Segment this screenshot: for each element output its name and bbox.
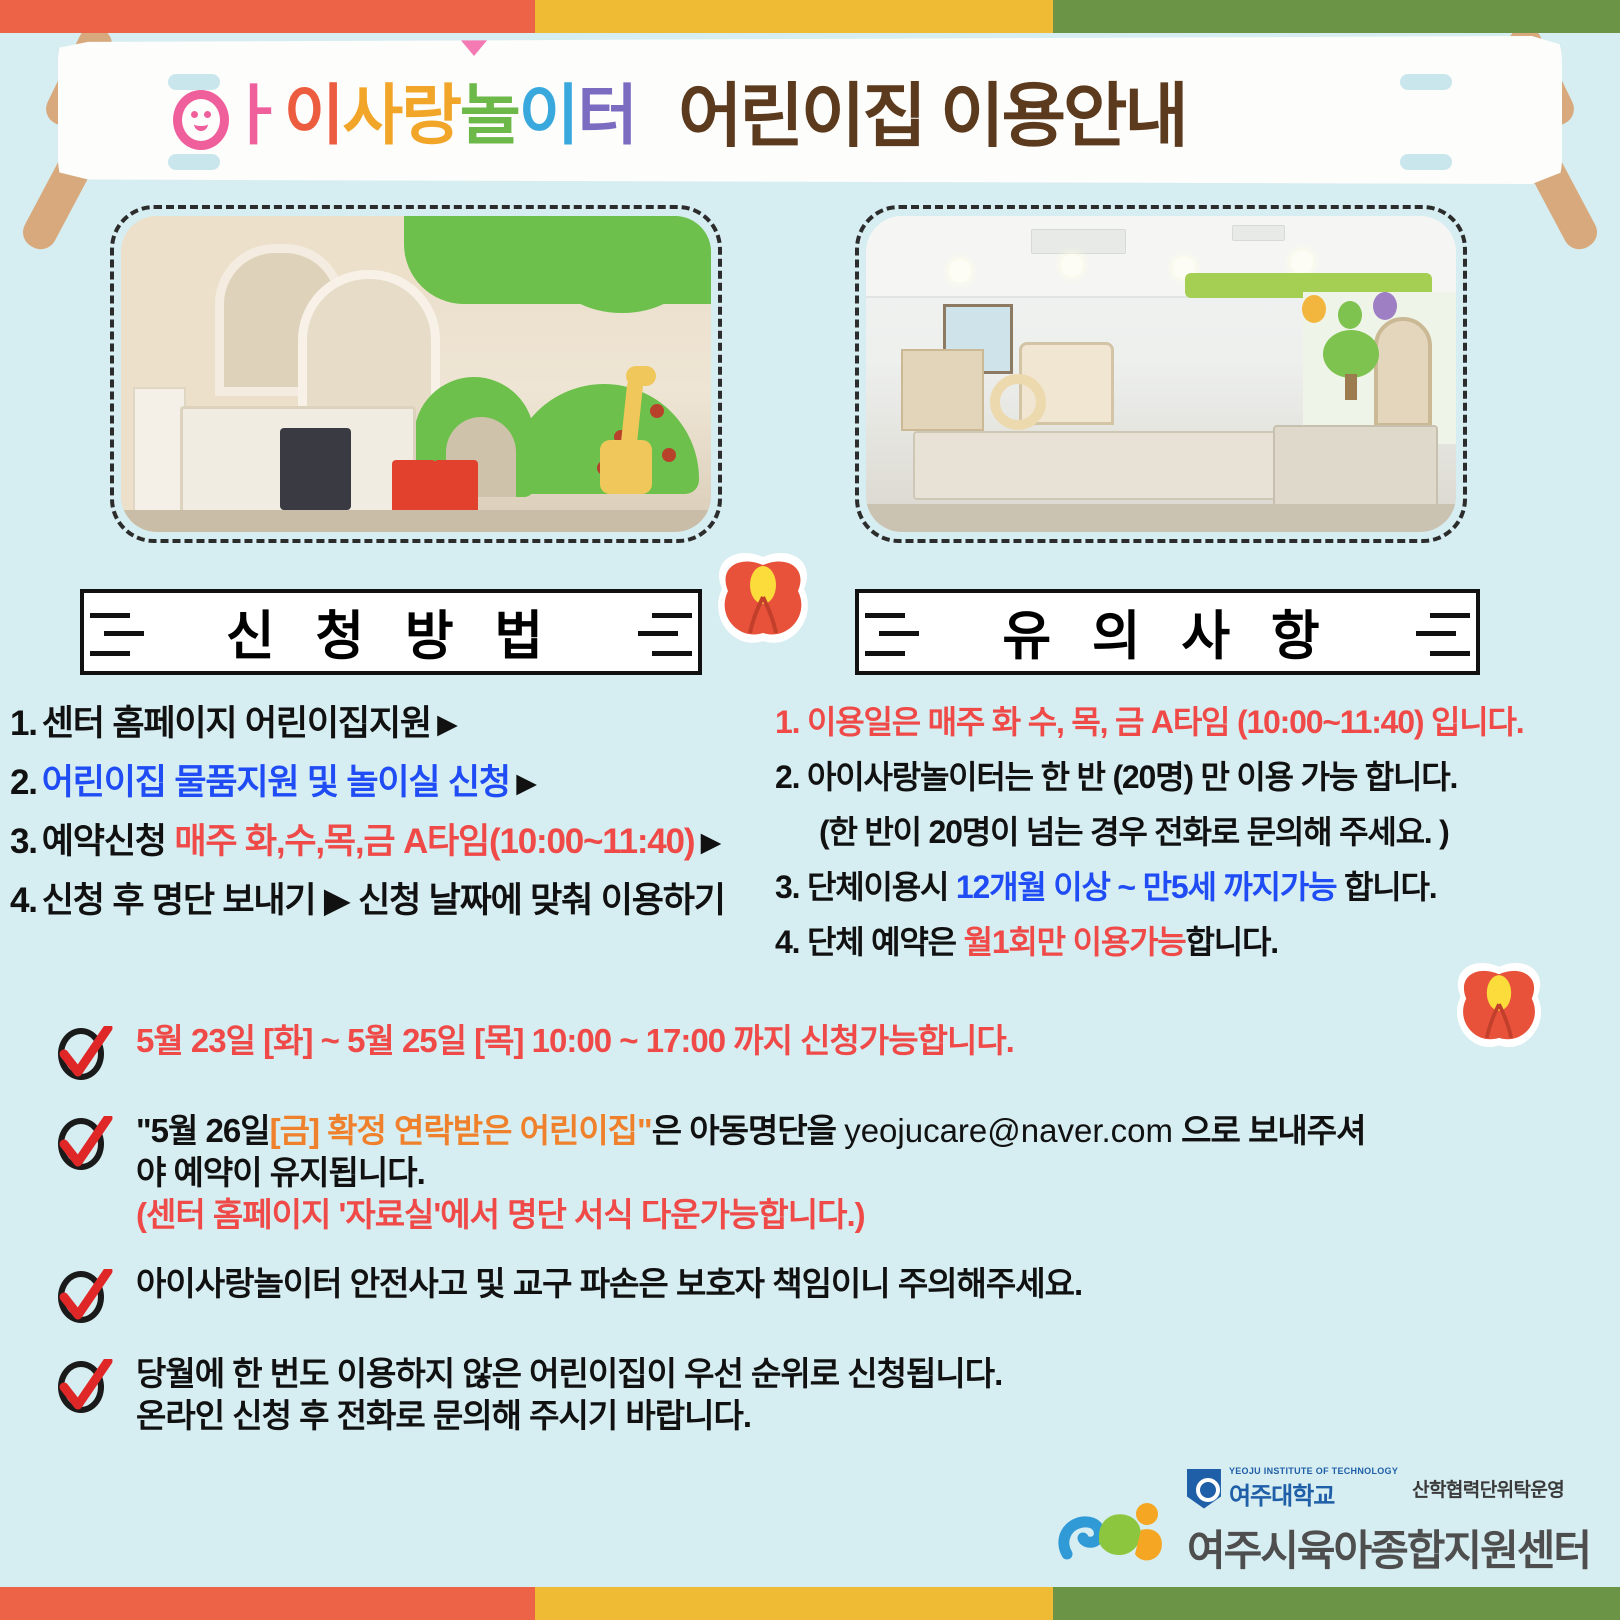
checklist-item-3: 아이사랑놀이터 안전사고 및 교구 파손은 보호자 책임이니 주의해주세요. <box>0 1263 1620 1327</box>
banner-ribbon: ㅏ이사랑놀이터 어린이집 이용안내 <box>58 36 1562 184</box>
operation-label: 산학협력단위탁운영 <box>1412 1475 1564 1502</box>
university-name-english: YEOJU INSTITUTE OF TECHNOLOGY <box>1229 1466 1398 1476</box>
notice-item-5: 4. 단체 예약은 월1회만 이용가능합니다. <box>775 926 1620 958</box>
checklist-item-2: "5월 26일[금] 확정 연락받은 어린이집"은 아동명단을 yeojucar… <box>0 1110 1620 1237</box>
notice-item-number: 2. <box>775 759 807 795</box>
section-header-apply: 신 청 방 법 <box>80 589 702 675</box>
notice-item-text: 합니다. <box>1186 924 1278 960</box>
color-bar-segment-red <box>0 0 535 33</box>
checklist-line: 야 예약이 유지됩니다. <box>136 1152 1366 1194</box>
checklist-line: 아이사랑놀이터 안전사고 및 교구 파손은 보호자 책임이니 주의해주세요. <box>136 1263 1082 1305</box>
notice-item-text: 월1회만 이용가능 <box>964 924 1186 960</box>
notice-item-number: 1. <box>775 704 807 740</box>
notice-list: 1. 이용일은 매주 화 수, 목, 금 A타임 (10:00~11:40) 입… <box>775 706 1620 981</box>
apply-step-1: 1.센터 홈페이지 어린이집지원 ▶ <box>10 706 780 741</box>
apply-step-3: 3.예약신청 매주 화,수,목,금 A타임(10:00~11:40) ▶ <box>10 824 780 859</box>
checklist-text-run: 온라인 신청 후 전화로 문의해 주시기 바랍니다. <box>136 1397 751 1434</box>
footer-logos: YEOJU INSTITUTE OF TECHNOLOGY 여주대학교 산학협력… <box>1055 1466 1590 1578</box>
apply-step-number: 3. <box>10 822 37 861</box>
checklist-item-text: 아이사랑놀이터 안전사고 및 교구 파손은 보호자 책임이니 주의해주세요. <box>136 1263 1082 1305</box>
apply-steps-list: 1.센터 홈페이지 어린이집지원 ▶2.어린이집 물품지원 및 놀이실 신청 ▶… <box>10 706 780 942</box>
checklist-text-run: (센터 홈페이지 '자료실'에서 명단 서식 다운가능합니다.) <box>136 1196 865 1233</box>
color-bar-segment-green <box>1053 1587 1620 1620</box>
checklist-text-run: 은 아동명단을 <box>652 1112 845 1149</box>
notice-item-1: 1. 이용일은 매주 화 수, 목, 금 A타임 (10:00~11:40) 입… <box>775 706 1620 738</box>
notice-item-text: (한 반이 20명이 넘는 경우 전화로 문의해 주세요. ) <box>819 814 1449 850</box>
checklist-line: 온라인 신청 후 전화로 문의해 주시기 바랍니다. <box>136 1395 1002 1437</box>
notice-item-2: 2. 아이사랑놀이터는 한 반 (20명) 만 이용 가능 합니다. <box>775 761 1620 793</box>
notice-item-text: 아이사랑놀이터는 한 반 (20명) 만 이용 가능 합니다. <box>807 759 1457 795</box>
arrow-right-icon: ▶ <box>431 709 457 739</box>
flower-decoration-icon <box>700 545 826 655</box>
checklist-text-run: 으로 보내주셔 <box>1173 1112 1366 1149</box>
top-color-bar <box>0 0 1620 33</box>
playground-logo: ㅏ이사랑놀이터 <box>173 62 636 158</box>
check-circle-icon <box>52 1112 118 1174</box>
check-circle-icon <box>52 1265 118 1327</box>
apply-step-number: 2. <box>10 763 37 802</box>
center-logo-mark-icon <box>1055 1492 1173 1574</box>
notice-item-number: 4. <box>775 924 807 960</box>
checklist-line: 당월에 한 번도 이용하지 않은 어린이집이 우선 순위로 신청됩니다. <box>136 1353 1002 1395</box>
checklist-text-run: 아이사랑놀이터 안전사고 및 교구 파손은 보호자 책임이니 주의해주세요. <box>136 1265 1082 1302</box>
color-bar-segment-green <box>1053 0 1620 33</box>
center-name: 여주시육아종합지원센터 <box>1187 1517 1590 1578</box>
checklist-line: (센터 홈페이지 '자료실'에서 명단 서식 다운가능합니다.) <box>136 1194 1366 1236</box>
university-credit: YEOJU INSTITUTE OF TECHNOLOGY 여주대학교 산학협력… <box>1187 1466 1564 1511</box>
checklist-text-run: yeojucare@naver.com <box>844 1112 1173 1149</box>
flower-decoration-icon <box>1440 955 1558 1059</box>
apply-step-text: 예약신청 <box>42 822 175 861</box>
checklist-item-text: "5월 26일[금] 확정 연락받은 어린이집"은 아동명단을 yeojucar… <box>136 1110 1366 1237</box>
photo-illustration-right <box>866 216 1456 532</box>
smiley-face-icon <box>173 90 229 150</box>
checklist: 5월 23일 [화] ~ 5월 25일 [목] 10:00 ~ 17:00 까지… <box>0 1020 1620 1463</box>
apply-step-text: 매주 화,수,목,금 A타임(10:00~11:40) <box>174 822 694 861</box>
photo-playroom-wide <box>855 205 1467 543</box>
checklist-item-text: 당월에 한 번도 이용하지 않은 어린이집이 우선 순위로 신청됩니다.온라인 … <box>136 1353 1002 1437</box>
section-header-notice: 유 의 사 항 <box>855 589 1480 675</box>
bottom-color-bar <box>0 1587 1620 1620</box>
section-header-apply-label: 신 청 방 법 <box>226 594 556 670</box>
apply-step-number: 4. <box>10 881 37 920</box>
checklist-line: "5월 26일[금] 확정 연락받은 어린이집"은 아동명단을 yeojucar… <box>136 1110 1366 1152</box>
photo-illustration-left <box>121 216 711 532</box>
color-bar-segment-yellow <box>535 0 1053 33</box>
checklist-text-run: "5월 26일 <box>136 1112 270 1149</box>
notice-item-text: 합니다. <box>1336 869 1436 905</box>
checklist-item-4: 당월에 한 번도 이용하지 않은 어린이집이 우선 순위로 신청됩니다.온라인 … <box>0 1353 1620 1437</box>
apply-step-text: 어린이집 물품지원 및 놀이실 신청 <box>42 763 510 802</box>
photo-row <box>0 205 1620 550</box>
banner-area: ㅏ이사랑놀이터 어린이집 이용안내 <box>0 28 1620 198</box>
page-title: 어린이집 이용안내 <box>678 60 1186 161</box>
ribbon-notch-right-top <box>1400 74 1452 90</box>
apply-step-number: 1. <box>10 704 37 743</box>
photo-playroom-kitchen <box>110 205 722 543</box>
checklist-item-1: 5월 23일 [화] ~ 5월 25일 [목] 10:00 ~ 17:00 까지… <box>0 1020 1620 1084</box>
notice-item-text: 12개월 이상 ~ 만5세 까지가능 <box>956 869 1336 905</box>
section-header-notice-label: 유 의 사 항 <box>1002 594 1332 670</box>
color-bar-segment-red <box>0 1587 535 1620</box>
checklist-line: 5월 23일 [화] ~ 5월 25일 [목] 10:00 ~ 17:00 까지… <box>136 1020 1014 1062</box>
notice-item-3: (한 반이 20명이 넘는 경우 전화로 문의해 주세요. ) <box>775 816 1620 848</box>
notice-item-4: 3. 단체이용시 12개월 이상 ~ 만5세 까지가능 합니다. <box>775 871 1620 903</box>
color-bar-segment-yellow <box>535 1587 1053 1620</box>
check-circle-icon <box>52 1355 118 1417</box>
apply-step-text: 센터 홈페이지 어린이집지원 <box>42 704 431 743</box>
apply-step-text: 신청 후 명단 보내기 ▶ 신청 날짜에 맞춰 이용하기 <box>42 881 725 920</box>
notice-item-text: 단체이용시 <box>807 869 956 905</box>
university-shield-icon <box>1187 1469 1221 1509</box>
checklist-text-run: 5월 23일 [화] ~ 5월 25일 [목] 10:00 ~ 17:00 까지… <box>136 1022 1014 1059</box>
arrow-right-icon: ▶ <box>694 827 720 857</box>
notice-item-number: 3. <box>775 869 807 905</box>
arrow-right-icon: ▶ <box>510 768 536 798</box>
apply-step-2: 2.어린이집 물품지원 및 놀이실 신청 ▶ <box>10 765 780 800</box>
notice-item-text: 이용일은 매주 화 수, 목, 금 A타임 (10:00~11:40) 입니다. <box>807 704 1523 740</box>
checklist-text-run: [금] 확정 연락받은 어린이집" <box>270 1112 652 1149</box>
apply-step-4: 4.신청 후 명단 보내기 ▶ 신청 날짜에 맞춰 이용하기 <box>10 883 780 918</box>
checklist-text-run: 당월에 한 번도 이용하지 않은 어린이집이 우선 순위로 신청됩니다. <box>136 1355 1002 1392</box>
checklist-item-text: 5월 23일 [화] ~ 5월 25일 [목] 10:00 ~ 17:00 까지… <box>136 1020 1014 1062</box>
check-circle-icon <box>52 1022 118 1084</box>
ribbon-notch-right-bottom <box>1400 154 1452 170</box>
notice-item-text: 단체 예약은 <box>807 924 964 960</box>
checklist-text-run: 야 예약이 유지됩니다. <box>136 1154 425 1191</box>
university-name-korean: 여주대학교 <box>1229 1476 1334 1511</box>
